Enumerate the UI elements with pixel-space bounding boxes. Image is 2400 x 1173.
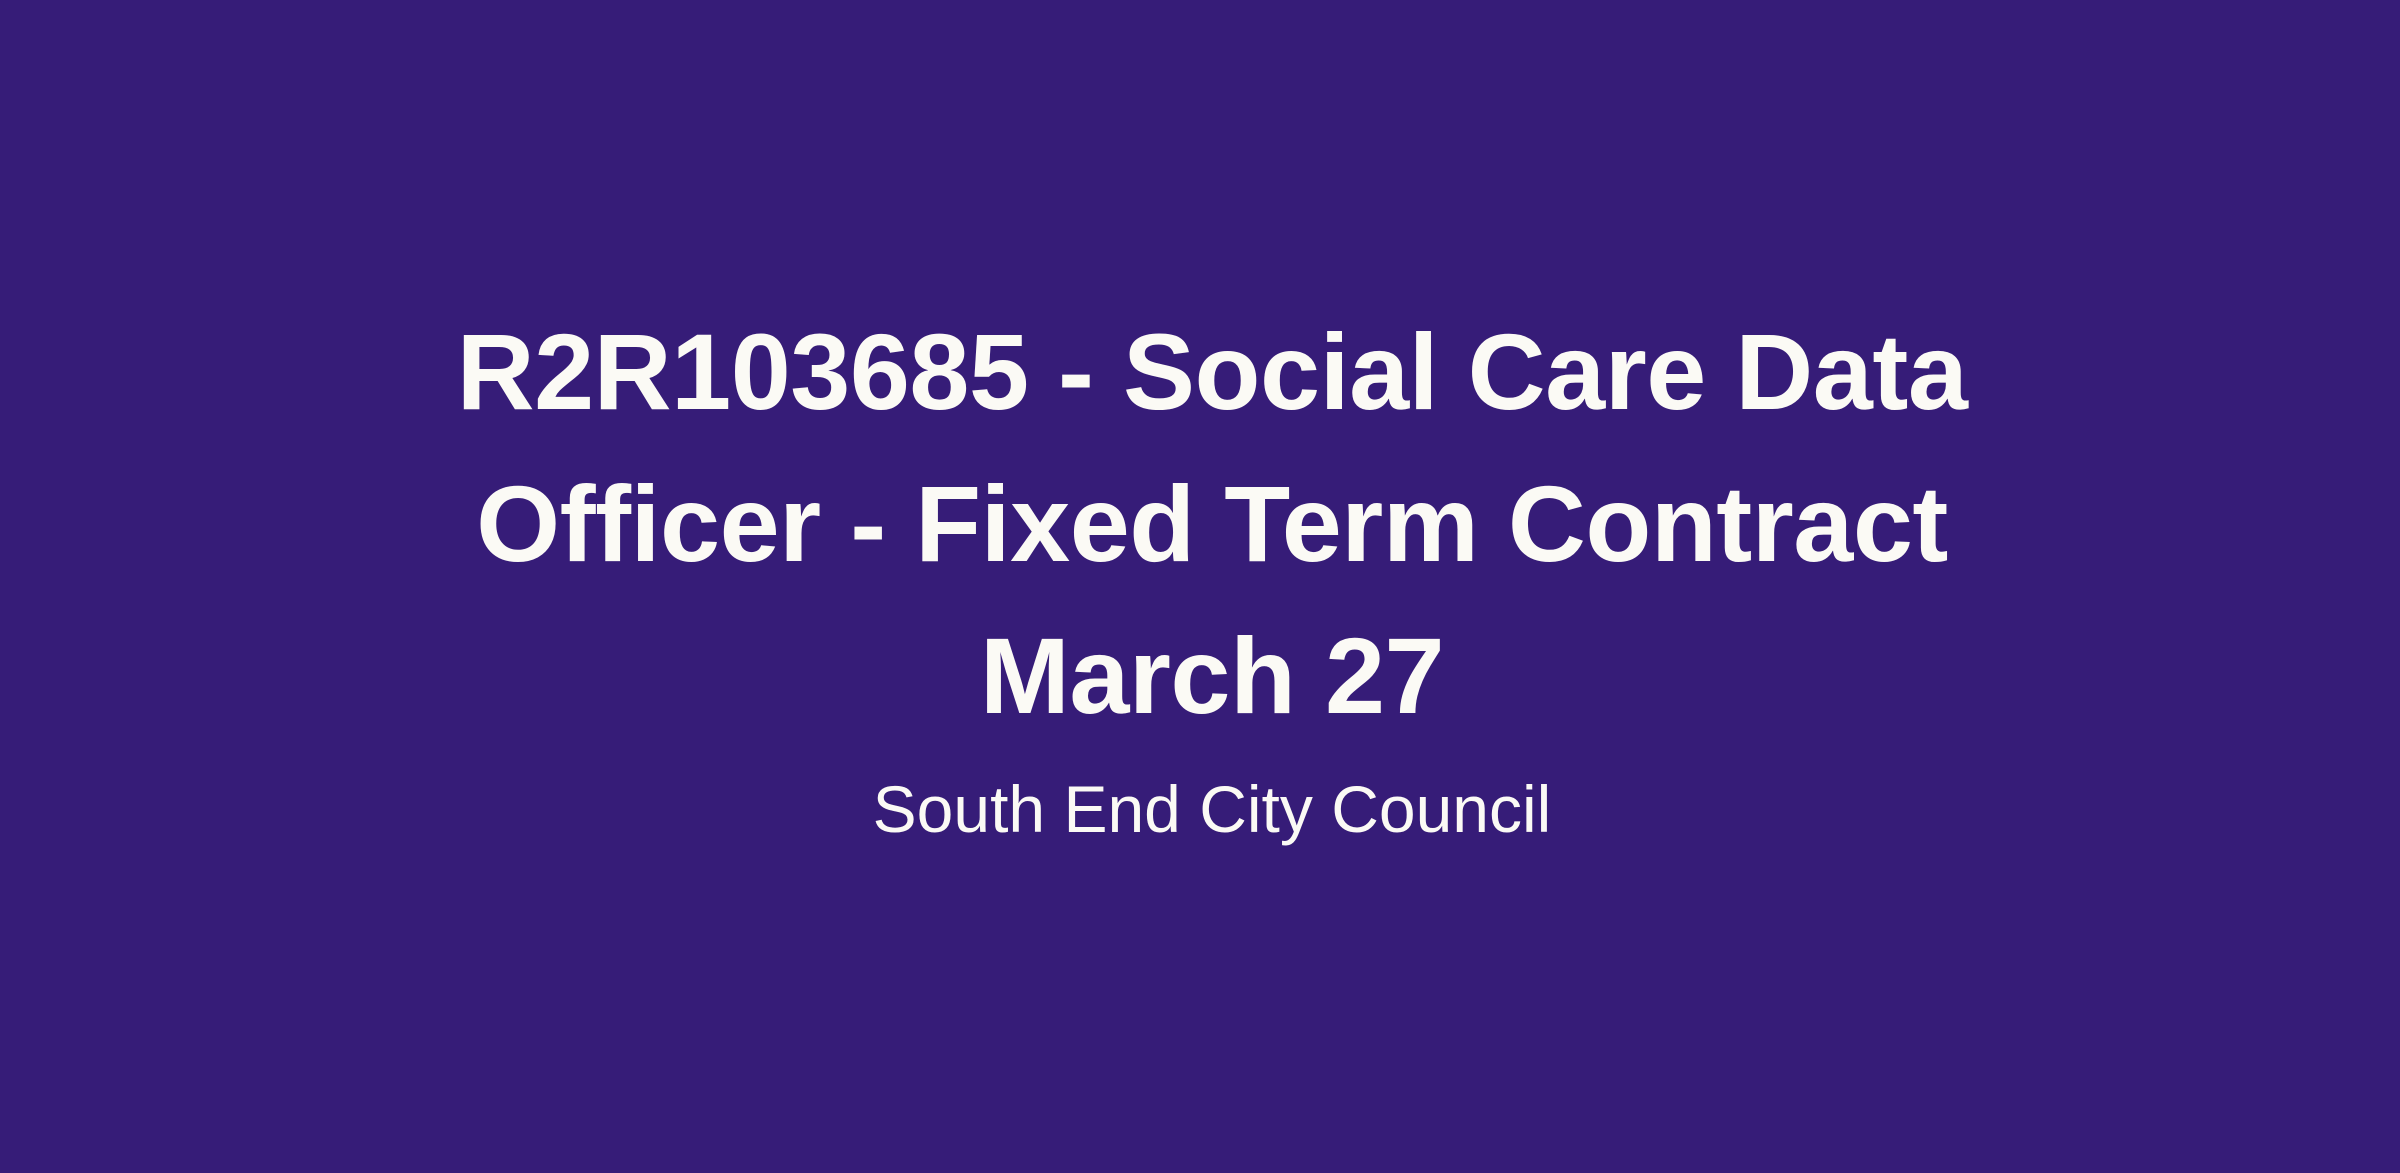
organisation-name: South End City Council xyxy=(24,766,2400,852)
job-posting-title-card: R2R103685 - Social Care Data Officer - F… xyxy=(0,0,2400,1173)
title-card-content: R2R103685 - Social Care Data Officer - F… xyxy=(0,296,2400,852)
page-title: R2R103685 - Social Care Data Officer - F… xyxy=(352,296,2072,752)
